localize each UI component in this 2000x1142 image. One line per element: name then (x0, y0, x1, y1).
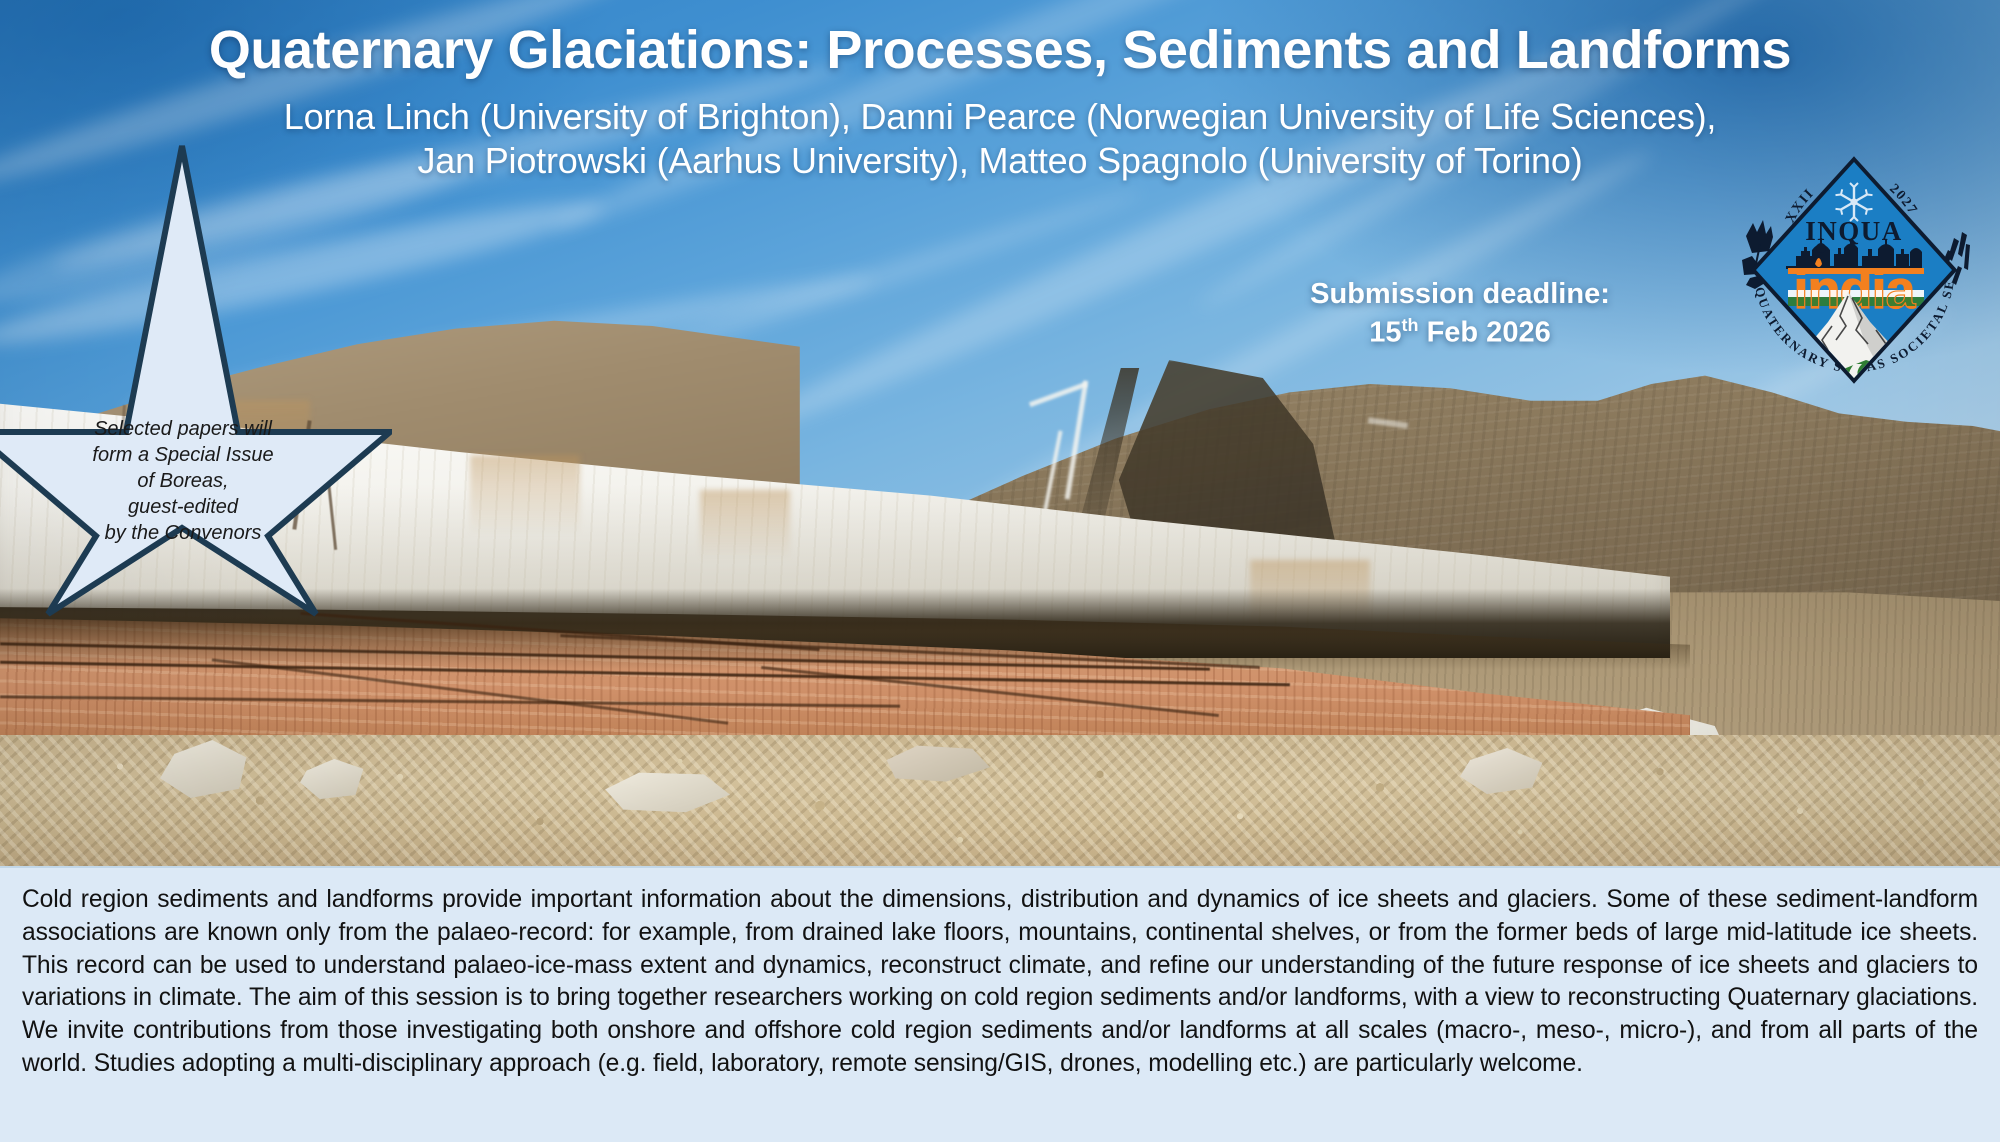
session-abstract-panel: Cold region sediments and landforms prov… (0, 866, 2000, 1142)
conference-session-poster: Quaternary Glaciations: Processes, Sedim… (0, 0, 2000, 1142)
star-line-1: Selected papers will (58, 416, 308, 442)
deadline-ordinal: th (1402, 315, 1419, 335)
logo-inqua-text: INQUA (1805, 216, 1903, 246)
special-issue-note: Selected papers will form a Special Issu… (58, 416, 308, 546)
authors-line-1: Lorna Linch (University of Brighton), Da… (0, 95, 2000, 139)
star-line-4: guest-edited (58, 494, 308, 520)
deadline-day: 15 (1369, 316, 1401, 348)
abstract-text: Cold region sediments and landforms prov… (22, 884, 1978, 1081)
gravel-texture (0, 735, 2000, 866)
inqua-india-2027-logo: INQUA (1736, 140, 1972, 410)
deadline-date: 15th Feb 2026 (1240, 314, 1680, 352)
star-line-5: by the Convenors (58, 520, 308, 546)
star-line-3: of Boreas, (58, 468, 308, 494)
submission-deadline: Submission deadline: 15th Feb 2026 (1240, 276, 1680, 352)
page-title: Quaternary Glaciations: Processes, Sedim… (0, 22, 2000, 79)
star-shape-icon (0, 136, 392, 622)
logo-svg: INQUA (1736, 140, 1972, 410)
star-line-2: form a Special Issue (58, 442, 308, 468)
deadline-label: Submission deadline: (1240, 276, 1680, 314)
special-issue-star-callout: Selected papers will form a Special Issu… (0, 136, 392, 622)
deadline-month-year: Feb 2026 (1419, 316, 1551, 348)
